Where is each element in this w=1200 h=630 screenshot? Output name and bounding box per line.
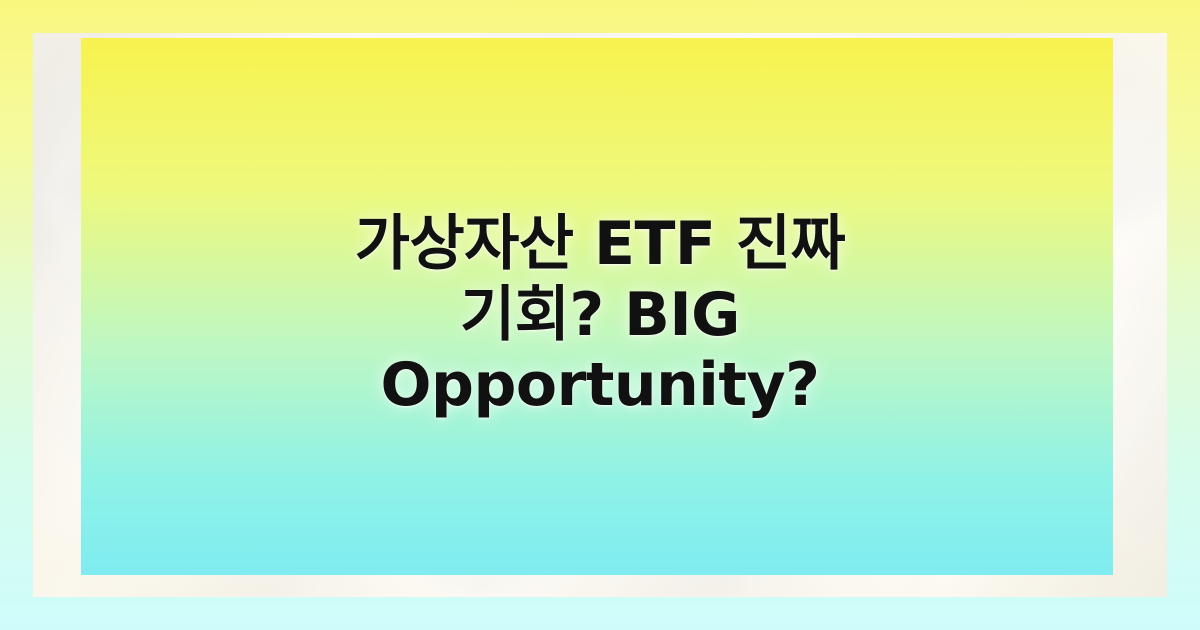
headline-container: 가상자산 ETF 진짜 기회? BIG Opportunity?: [0, 0, 1200, 630]
title-line-1: 가상자산 ETF 진짜: [355, 209, 845, 280]
page-title: 가상자산 ETF 진짜 기회? BIG Opportunity?: [285, 209, 915, 421]
poster-canvas: U36649 9999 STARBCOM 2015 FINE GOLD 999.…: [0, 0, 1200, 630]
title-line-2: 기회? BIG: [355, 280, 845, 351]
title-line-3: Opportunity?: [355, 350, 845, 421]
